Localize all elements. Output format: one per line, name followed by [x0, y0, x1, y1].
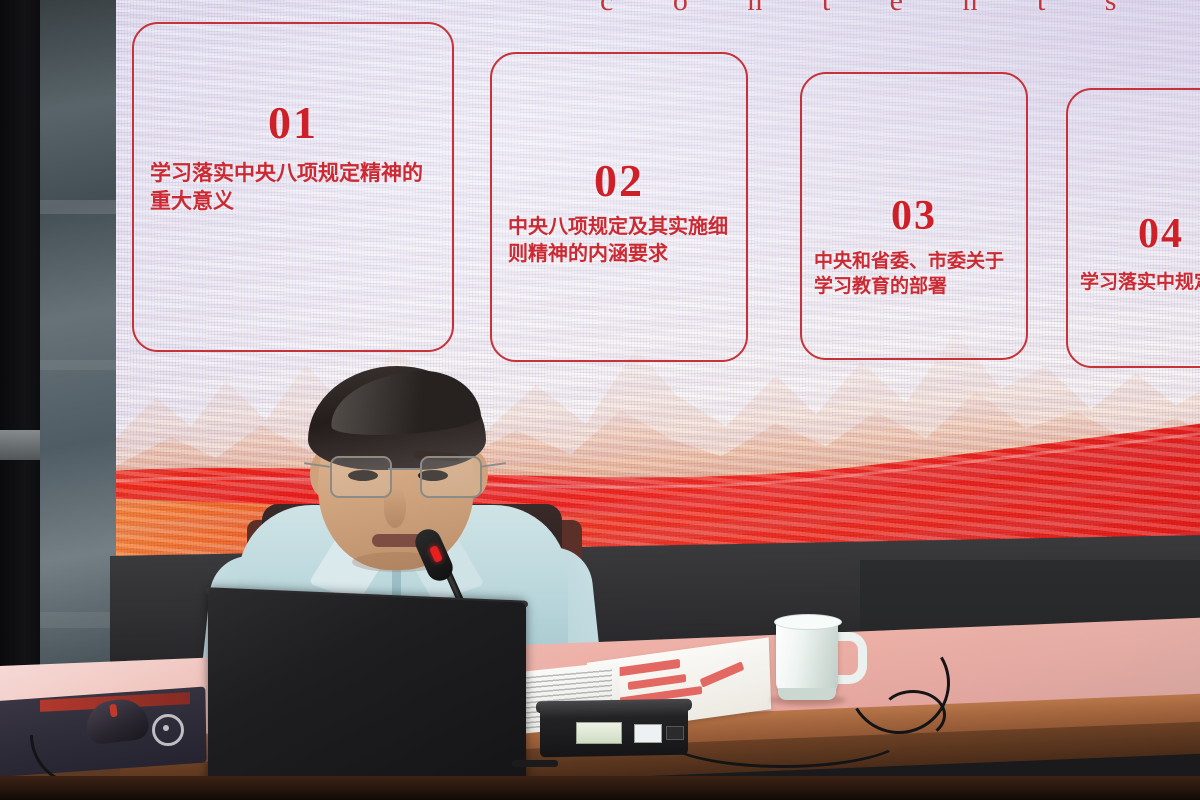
eyeglasses: [330, 456, 480, 496]
desk-cable-run: [660, 704, 906, 768]
device-port: [666, 726, 684, 740]
wall-ledge: [0, 430, 40, 460]
device-label-sticker: [634, 724, 662, 743]
laptop-usb-cable: [512, 760, 558, 767]
agenda-card-04[interactable]: 04 学习落实中规定精神，投发展稳步: [1066, 88, 1200, 368]
agenda-card-number: 03: [802, 192, 1026, 240]
agenda-card-02[interactable]: 02 中央八项规定及其实施细则精神的内涵要求: [490, 52, 748, 362]
person-nose: [384, 488, 406, 528]
desk-front-shadow: [0, 776, 1200, 800]
eyeglass-lens-left: [330, 456, 392, 498]
agenda-card-number: 04: [1058, 210, 1200, 258]
agenda-card-text: 学习落实中央八项规定精神的重大意义: [150, 160, 442, 216]
agenda-card-text: 中央和省委、市委关于学习教育的部署: [814, 249, 1016, 300]
screenshot-root: c o n t e n t s 01 学习落实中央八项规定精神的重大意义 02 …: [0, 0, 1200, 800]
agenda-card-03[interactable]: 03 中央和省委、市委关于学习教育的部署: [800, 72, 1028, 360]
glass-reflection-streak: [40, 612, 118, 628]
glass-reflection-streak: [40, 360, 118, 370]
slide-header-contents: c o n t e n t s: [600, 0, 1142, 18]
agenda-card-number: 02: [492, 154, 746, 207]
glass-reflection-streak: [40, 200, 118, 214]
agenda-card-number: 01: [134, 96, 452, 149]
laptop-lid[interactable]: Lenovo: [208, 589, 526, 800]
mouse-scroll-wheel[interactable]: [109, 704, 118, 718]
mug-base: [778, 688, 836, 700]
eyeglass-bridge: [388, 468, 420, 470]
mug-rim: [774, 614, 842, 630]
agenda-card-01[interactable]: 01 学习落实中央八项规定精神的重大意义: [132, 22, 454, 352]
device-label-sticker: [576, 722, 622, 744]
agenda-card-text: 学习落实中规定精神，投发展稳步: [1080, 270, 1200, 295]
agenda-card-text: 中央八项规定及其实施细则精神的内涵要求: [508, 214, 736, 267]
eyeglass-lens-right: [420, 456, 482, 498]
